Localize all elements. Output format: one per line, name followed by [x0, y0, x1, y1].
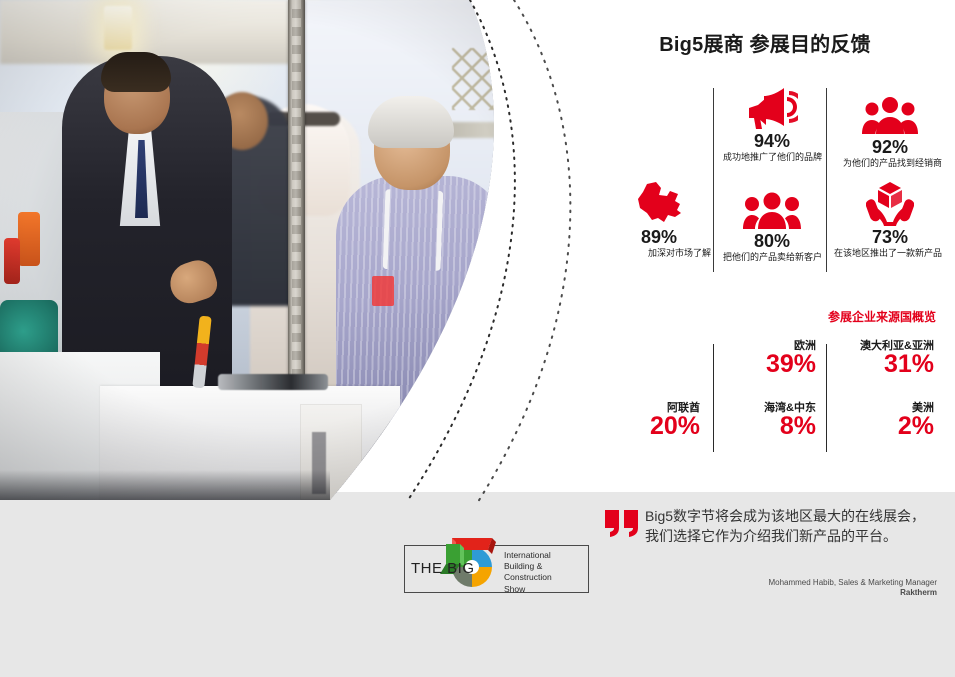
page-title: Big5展商 参展目的反馈 [600, 28, 930, 57]
region-europe: 欧洲 39% [716, 340, 826, 377]
origin-divider-1 [713, 344, 714, 452]
testimonial-quote: Big5数字节将会成为该地区最大的在线展会，我们选择它作为介绍我们新产品的平台。… [605, 506, 945, 616]
logo-tagline-line2: Building & [504, 561, 586, 572]
three-people-icon [716, 184, 828, 230]
stat-market-insight: 89% 加深对市场了解 [603, 180, 715, 259]
map-region-icon [603, 180, 715, 226]
logo-tagline-line4: Show [504, 584, 586, 595]
stat-value: 73% [834, 228, 946, 247]
origin-divider-2 [826, 344, 827, 452]
stat-launch-product: 73% 在该地区推出了一款新产品 [834, 180, 946, 259]
quote-text: Big5数字节将会成为该地区最大的在线展会，我们选择它作为介绍我们新产品的平台。 [645, 506, 937, 547]
region-value: 20% [600, 413, 700, 439]
stat-label: 成功地推广了他们的品牌 [716, 152, 828, 163]
people-group-icon [834, 90, 946, 136]
stat-value: 80% [716, 232, 828, 251]
infographic-page: Big5展商 参展目的反馈 [0, 0, 955, 677]
stat-find-distributor: 92% 为他们的产品找到经销商 [834, 90, 946, 169]
megaphone-icon [716, 84, 828, 130]
region-gulf-mideast: 海湾&中东 8% [716, 402, 826, 439]
stat-label: 在该地区推出了一款新产品 [834, 248, 946, 259]
big5-logo: THE BIG International Building & Constru… [404, 534, 589, 600]
stat-value: 92% [834, 138, 946, 157]
region-uae: 阿联酋 20% [600, 402, 710, 439]
quote-author: Mohammed Habib, Sales & Marketing Manage… [645, 578, 937, 588]
stat-value: 94% [716, 132, 828, 151]
logo-tagline-line3: Construction [504, 572, 586, 583]
quote-attribution: Mohammed Habib, Sales & Marketing Manage… [645, 578, 937, 598]
hands-box-icon [834, 180, 946, 226]
logo-tagline: International Building & Construction Sh… [504, 550, 586, 595]
exhibition-photo [0, 0, 600, 500]
stats-grid: 94% 成功地推广了他们的品牌 [600, 84, 955, 274]
stat-label: 加深对市场了解 [603, 248, 715, 259]
region-value: 39% [716, 351, 816, 377]
region-value: 31% [832, 351, 934, 377]
region-australia-asia: 澳大利亚&亚洲 31% [832, 340, 942, 377]
stat-label: 把他们的产品卖给新客户 [716, 252, 828, 263]
stat-promote-brand: 94% 成功地推广了他们的品牌 [716, 84, 828, 163]
region-value: 8% [716, 413, 816, 439]
content-column: Big5展商 参展目的反馈 [600, 0, 955, 492]
region-americas: 美洲 2% [832, 402, 942, 439]
logo-wordmark: THE BIG [411, 560, 495, 577]
photo-vignette [0, 0, 600, 500]
logo-tagline-line1: International [504, 550, 586, 561]
origin-grid: 欧洲 39% 澳大利亚&亚洲 31% 阿联酋 20% 海湾&中东 8% 美洲 2… [600, 340, 955, 458]
stat-label: 为他们的产品找到经销商 [834, 158, 946, 169]
photo-clip [0, 0, 600, 500]
quote-mark-icon [605, 510, 639, 538]
stat-sell-new-clients: 80% 把他们的产品卖给新客户 [716, 184, 828, 263]
stat-value: 89% [603, 228, 715, 247]
region-value: 2% [832, 413, 934, 439]
origin-section-title: 参展企业来源国概览 [600, 308, 936, 325]
quote-company: Raktherm [645, 588, 937, 598]
